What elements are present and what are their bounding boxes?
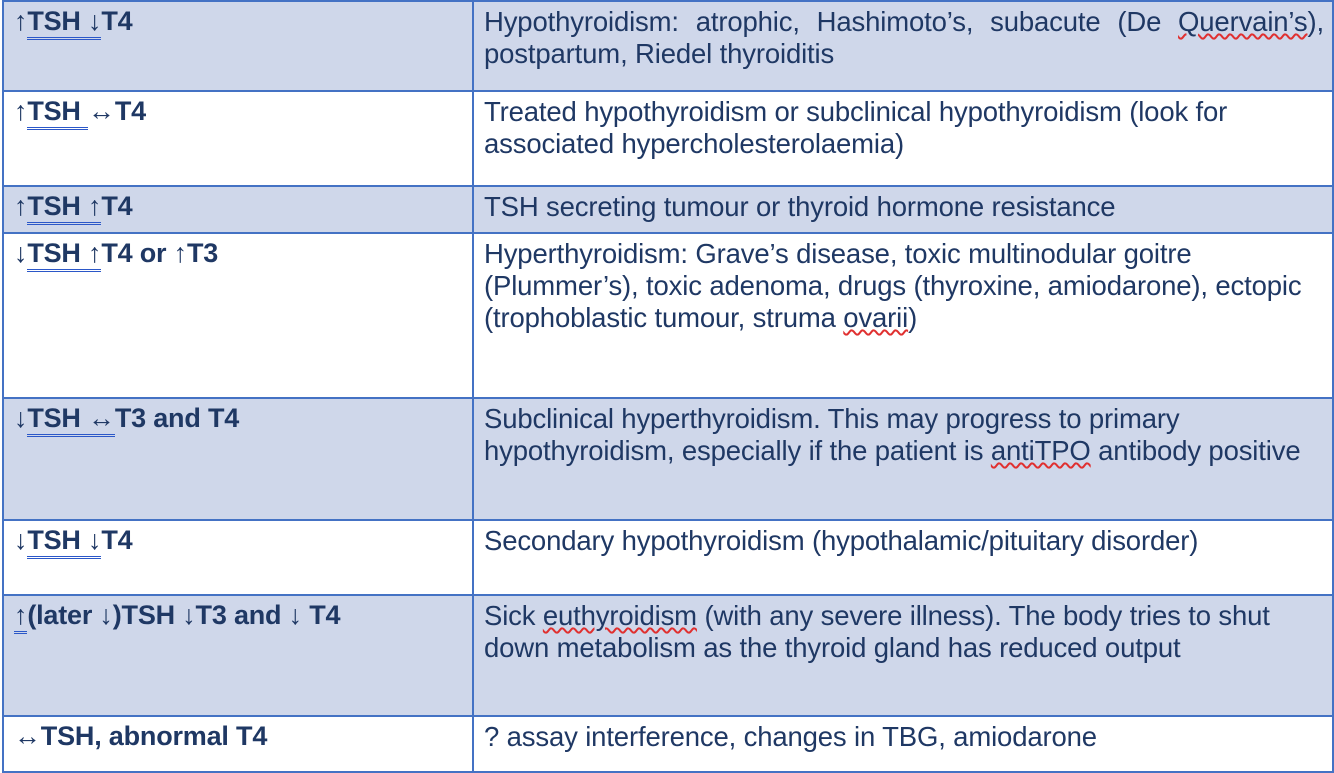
table-row: ↑TSH ↔T4Treated hypothyroidism or subcli… bbox=[3, 91, 1333, 186]
trend-arrow-icon: ↓ bbox=[14, 238, 27, 268]
interpretation-text: ? assay interference, changes in TBG, am… bbox=[484, 721, 1097, 752]
spellcheck-underline-mark: Quervain’s bbox=[1178, 6, 1307, 37]
trend-arrow-icon: ↑ bbox=[14, 191, 27, 221]
interpretation-cell: Treated hypothyroidism or subclinical hy… bbox=[473, 91, 1333, 186]
trend-arrow-icon: ↑ bbox=[14, 96, 27, 126]
pattern-cell: ↓TSH ↓T4 bbox=[3, 520, 473, 595]
pattern-cell: ↑TSH ↔T4 bbox=[3, 91, 473, 186]
pattern-cell: ↓TSH ↔T3 and T4 bbox=[3, 398, 473, 520]
table-row: ↔TSH, abnormal T4? assay interference, c… bbox=[3, 716, 1333, 772]
table-row: ↑TSH ↓T4Hypothyroidism: atrophic, Hashim… bbox=[3, 1, 1333, 91]
grammar-underline-mark: TSH ↑ bbox=[27, 191, 101, 225]
pattern-cell: ↔TSH, abnormal T4 bbox=[3, 716, 473, 772]
interpretation-cell: Hyperthyroidism: Grave’s disease, toxic … bbox=[473, 233, 1333, 398]
spellcheck-underline-mark: antiTPO bbox=[991, 435, 1091, 466]
interpretation-text: Treated hypothyroidism or subclinical hy… bbox=[484, 96, 1227, 159]
pattern-text: (later ↓)TSH ↓T3 and ↓ T4 bbox=[27, 600, 340, 630]
interpretation-cell: Secondary hypothyroidism (hypothalamic/p… bbox=[473, 520, 1333, 595]
pattern-text: T4 or ↑T3 bbox=[101, 238, 218, 268]
interpretation-text: Hypothyroidism: atrophic, Hashimoto’s, s… bbox=[484, 6, 1324, 70]
pattern-cell: ↑TSH ↓T4 bbox=[3, 1, 473, 91]
grammar-underline-mark: TSH ↔ bbox=[27, 403, 115, 437]
spellcheck-underline-mark: ovarii bbox=[843, 302, 908, 333]
interpretation-text: Sick euthyroidism (with any severe illne… bbox=[484, 600, 1270, 663]
pattern-text: T4 bbox=[101, 191, 132, 221]
grammar-underline-mark: ↑ bbox=[14, 600, 27, 634]
interpretation-text: TSH secreting tumour or thyroid hormone … bbox=[484, 191, 1115, 222]
pattern-text: ↔T4 bbox=[88, 96, 146, 126]
grammar-underline-mark: TSH ↓ bbox=[27, 6, 101, 40]
pattern-text: T3 and T4 bbox=[115, 403, 239, 433]
table-row: ↓TSH ↑T4 or ↑T3Hyperthyroidism: Grave’s … bbox=[3, 233, 1333, 398]
interpretation-text: Secondary hypothyroidism (hypothalamic/p… bbox=[484, 525, 1198, 556]
table-row: ↑(later ↓)TSH ↓T3 and ↓ T4Sick euthyroid… bbox=[3, 595, 1333, 716]
interpretation-cell: TSH secreting tumour or thyroid hormone … bbox=[473, 186, 1333, 233]
pattern-cell: ↓TSH ↑T4 or ↑T3 bbox=[3, 233, 473, 398]
interpretation-cell: ? assay interference, changes in TBG, am… bbox=[473, 716, 1333, 772]
trend-arrow-icon: ↓ bbox=[14, 525, 27, 555]
pattern-text: T4 bbox=[101, 525, 132, 555]
table-row: ↓TSH ↔T3 and T4Subclinical hyperthyroidi… bbox=[3, 398, 1333, 520]
table-body: ↑TSH ↓T4Hypothyroidism: atrophic, Hashim… bbox=[3, 1, 1333, 772]
pattern-cell: ↑(later ↓)TSH ↓T3 and ↓ T4 bbox=[3, 595, 473, 716]
spellcheck-underline-mark: euthyroidism bbox=[543, 600, 697, 631]
grammar-underline-mark: TSH ↓ bbox=[27, 525, 101, 559]
trend-arrow-icon: ↑ bbox=[14, 6, 27, 36]
interpretation-cell: Hypothyroidism: atrophic, Hashimoto’s, s… bbox=[473, 1, 1333, 91]
pattern-text: ↔TSH, abnormal T4 bbox=[14, 721, 267, 751]
interpretation-cell: Subclinical hyperthyroidism. This may pr… bbox=[473, 398, 1333, 520]
grammar-underline-mark: TSH bbox=[27, 96, 88, 130]
table-row: ↑TSH ↑T4TSH secreting tumour or thyroid … bbox=[3, 186, 1333, 233]
trend-arrow-icon: ↓ bbox=[14, 403, 27, 433]
pattern-cell: ↑TSH ↑T4 bbox=[3, 186, 473, 233]
table-row: ↓TSH ↓T4Secondary hypothyroidism (hypoth… bbox=[3, 520, 1333, 595]
interpretation-text: Subclinical hyperthyroidism. This may pr… bbox=[484, 403, 1300, 466]
thyroid-function-test-table: ↑TSH ↓T4Hypothyroidism: atrophic, Hashim… bbox=[2, 0, 1334, 773]
pattern-text: T4 bbox=[101, 6, 132, 36]
interpretation-text: Hyperthyroidism: Grave’s disease, toxic … bbox=[484, 238, 1302, 333]
grammar-underline-mark: TSH ↑ bbox=[27, 238, 101, 272]
interpretation-cell: Sick euthyroidism (with any severe illne… bbox=[473, 595, 1333, 716]
